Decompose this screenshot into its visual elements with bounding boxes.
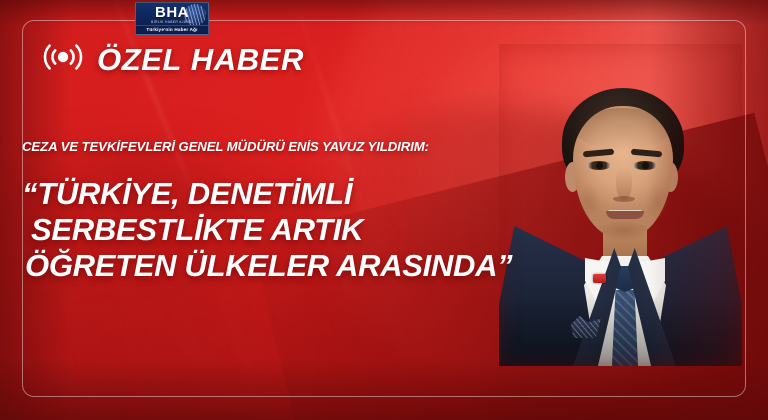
necktie [611,290,639,366]
pupil-right [642,162,649,169]
chin-shadow [595,222,653,244]
cheek-right [645,184,669,218]
cheek-left [577,184,601,218]
news-banner: BHA BİRLİK HABER AJANSI Türkiye'nin Habe… [0,0,768,420]
mouth [606,211,644,219]
bha-logo-band: Türkiye'nin Haber Ağı [136,25,208,33]
kicker-text: CEZA VE TEVKİFEVLERİ GENEL MÜDÜRÜ ENİS Y… [22,139,482,154]
bha-logo-subtitle: BİRLİK HABER AJANSI [151,20,193,24]
vignette-top [0,0,768,26]
ozel-haber-badge: ÖZEL HABER [42,40,304,79]
headline-line-2: SERBESTLİKTE ARTIK [22,212,527,248]
bha-logo-text: BHA [155,5,189,20]
forehead-shadow [575,108,671,150]
portrait-photo [499,44,742,366]
ozel-haber-label: ÖZEL HABER [97,42,304,78]
live-broadcast-icon [42,40,84,79]
pupil-left [596,162,603,169]
headline-line-3: ÖĞRETEN ÜLKELER ARASINDA” [22,248,527,284]
headline-line-1: “TÜRKİYE, DENETİMLİ [22,176,527,212]
vignette-bottom [0,360,768,420]
bha-logo-tagline: Türkiye'nin Haber Ağı [136,26,208,33]
headline: “TÜRKİYE, DENETİMLİ SERBESTLİKTE ARTIK Ö… [22,176,527,284]
flag-lapel-pin-icon [593,274,606,283]
nostrils [613,196,635,202]
bha-logo[interactable]: BHA BİRLİK HABER AJANSI Türkiye'nin Habe… [135,2,209,35]
